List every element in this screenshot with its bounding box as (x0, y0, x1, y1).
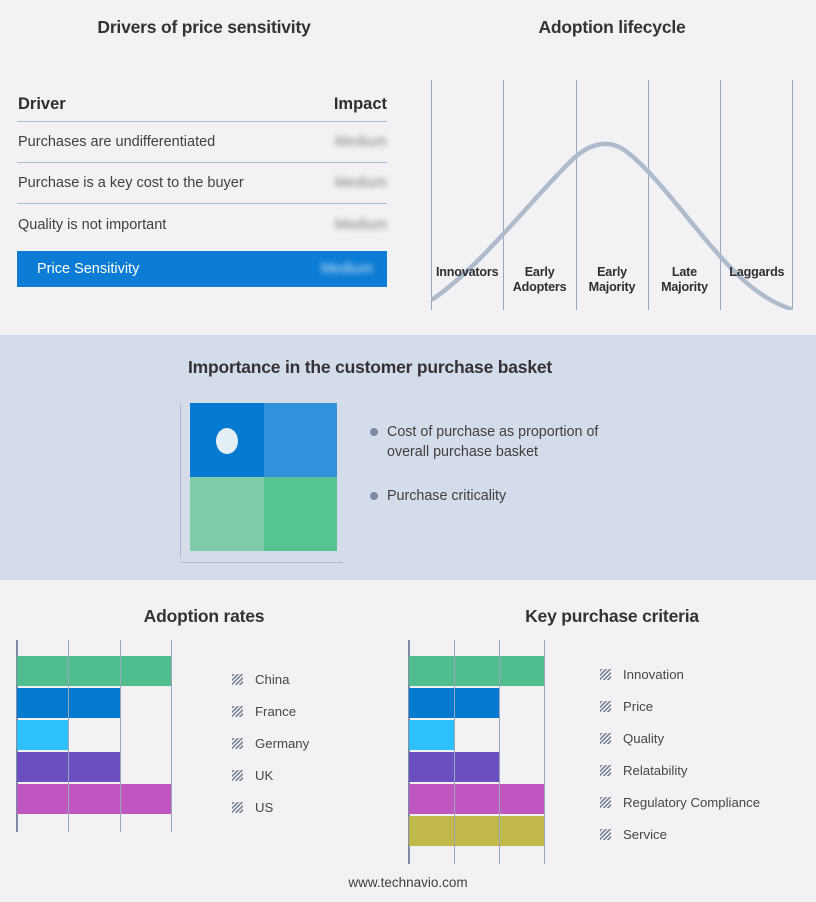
matrix-cell-top-right (264, 403, 338, 477)
driver-label: Purchases are undifferentiated (17, 134, 215, 150)
legend-label: Regulatory Compliance (623, 795, 760, 810)
legend-swatch-icon (232, 770, 243, 781)
legend-swatch-icon (600, 669, 611, 680)
bar-regulatory-compliance (409, 784, 544, 814)
legend-label: US (255, 800, 273, 815)
adoption-lifecycle-stage-labels: Innovators Early Adopters Early Majority… (431, 265, 793, 295)
legend-label: Relatability (623, 763, 688, 778)
gridline (68, 640, 69, 832)
table-row: Purchases are undifferentiated Medium (17, 122, 387, 163)
bar-innovation (409, 656, 544, 686)
stage-label-innovators: Innovators (431, 265, 503, 295)
legend-swatch-icon (232, 738, 243, 749)
adoption-rates-legend: ChinaFranceGermanyUKUS (232, 663, 309, 823)
impact-value: Medium (317, 217, 387, 233)
legend-label: Cost of purchase as proportion of overal… (387, 422, 637, 462)
bullet-icon (370, 428, 378, 436)
bar-china (17, 656, 171, 686)
bar-quality (409, 720, 454, 750)
summary-impact-value: Medium (303, 261, 373, 277)
adoption-rates-plot-area (17, 640, 222, 832)
gridline (454, 640, 455, 864)
legend-label: Service (623, 827, 667, 842)
matrix-marker-dot (216, 428, 238, 454)
legend-item: UK (232, 759, 309, 791)
matrix-x-axis (180, 562, 343, 563)
legend-swatch-icon (600, 829, 611, 840)
legend-item: Purchase criticality (370, 486, 700, 506)
column-header-driver: Driver (17, 95, 66, 114)
matrix-cell-top-left (190, 403, 264, 477)
bullet-icon (370, 492, 378, 500)
legend-swatch-icon (600, 701, 611, 712)
matrix-cell-bottom-left (190, 477, 264, 551)
legend-item: Price (600, 690, 760, 722)
price-sensitivity-summary-row: Price Sensitivity Medium (17, 251, 387, 287)
drivers-title: Drivers of price sensitivity (0, 17, 408, 38)
gridline (120, 640, 121, 832)
legend-item: US (232, 791, 309, 823)
legend-swatch-icon (232, 674, 243, 685)
legend-swatch-icon (600, 765, 611, 776)
drivers-panel: Drivers of price sensitivity Driver Impa… (0, 0, 408, 335)
legend-swatch-icon (232, 802, 243, 813)
table-row: Quality is not important Medium (17, 204, 387, 245)
impact-value: Medium (317, 134, 387, 150)
stage-label-early-majority: Early Majority (576, 265, 648, 295)
gridline (544, 640, 545, 864)
legend-label: Germany (255, 736, 309, 751)
legend-item: Relatability (600, 754, 760, 786)
stage-label-late-majority: Late Majority (648, 265, 720, 295)
legend-item: Germany (232, 727, 309, 759)
column-header-impact: Impact (317, 95, 387, 114)
purchase-criteria-title: Key purchase criteria (408, 606, 816, 627)
stage-label-early-adopters: Early Adopters (503, 265, 575, 295)
impact-value: Medium (317, 175, 387, 191)
stage-label-laggards: Laggards (721, 265, 793, 295)
purchase-criteria-chart (409, 640, 589, 864)
gridline (171, 640, 172, 832)
legend-item: Innovation (600, 658, 760, 690)
adoption-lifecycle-title: Adoption lifecycle (408, 17, 816, 38)
gridline (499, 640, 500, 864)
legend-item: France (232, 695, 309, 727)
legend-label: Purchase criticality (387, 486, 506, 506)
legend-item: Service (600, 818, 760, 850)
purchase-criteria-legend: InnovationPriceQualityRelatabilityRegula… (600, 658, 760, 850)
purchase-basket-matrix (180, 403, 345, 563)
footer-url: www.technavio.com (0, 875, 816, 890)
bar-us (17, 784, 171, 814)
legend-label: Quality (623, 731, 664, 746)
legend-label: China (255, 672, 289, 687)
table-header-row: Driver Impact (17, 88, 387, 122)
legend-swatch-icon (232, 706, 243, 717)
legend-item: Cost of purchase as proportion of overal… (370, 422, 700, 462)
legend-item: Regulatory Compliance (600, 786, 760, 818)
matrix-quadrants (190, 403, 337, 551)
legend-swatch-icon (600, 733, 611, 744)
legend-label: UK (255, 768, 273, 783)
bar-germany (17, 720, 68, 750)
adoption-rates-title: Adoption rates (0, 606, 408, 627)
legend-label: Price (623, 699, 653, 714)
bar-service (409, 816, 544, 846)
legend-label: Innovation (623, 667, 684, 682)
driver-label: Purchase is a key cost to the buyer (17, 175, 244, 191)
legend-item: Quality (600, 722, 760, 754)
driver-label: Quality is not important (17, 217, 166, 233)
matrix-cell-bottom-right (264, 477, 338, 551)
summary-label: Price Sensitivity (37, 261, 139, 277)
table-row: Purchase is a key cost to the buyer Medi… (17, 163, 387, 204)
legend-item: China (232, 663, 309, 695)
adoption-rates-chart (17, 640, 222, 832)
top-section: Drivers of price sensitivity Driver Impa… (0, 0, 816, 335)
legend-swatch-icon (600, 797, 611, 808)
purchase-basket-legend: Cost of purchase as proportion of overal… (370, 422, 700, 530)
purchase-criteria-plot-area (409, 640, 589, 864)
purchase-basket-title: Importance in the customer purchase bask… (0, 357, 740, 378)
adoption-lifecycle-panel: Adoption lifecycle Innovators Early Adop… (408, 0, 816, 335)
drivers-table: Driver Impact Purchases are undifferenti… (17, 88, 387, 287)
legend-label: France (255, 704, 296, 719)
purchase-basket-panel: Importance in the customer purchase bask… (0, 335, 816, 580)
matrix-y-axis (180, 403, 181, 558)
